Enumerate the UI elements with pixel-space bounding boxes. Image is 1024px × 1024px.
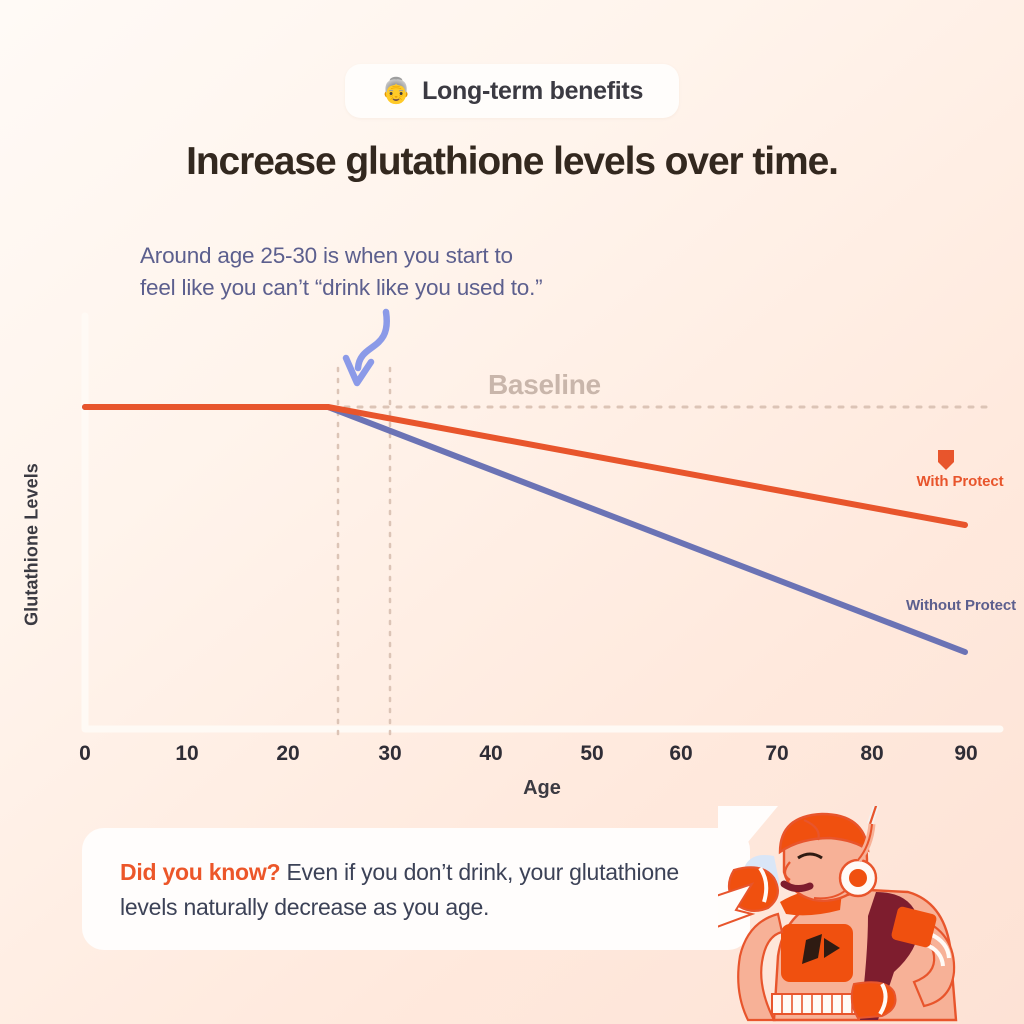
x-axis-title: Age (462, 777, 622, 800)
series-line-with-protect (85, 407, 965, 525)
baseline-label: Baseline (488, 369, 601, 401)
y-axis-title: Glutathione Levels (22, 450, 43, 640)
chart-annotation-line-1: Around age 25-30 is when you start to (140, 240, 640, 272)
x-tick-20: 20 (263, 742, 313, 766)
page-title: Increase glutathione levels over time. (0, 140, 1024, 184)
curved-down-arrow-head (346, 358, 371, 383)
x-tick-60: 60 (656, 742, 706, 766)
x-tick-30: 30 (365, 742, 415, 766)
did-you-know-card: Did you know? Even if you don’t drink, y… (82, 828, 750, 950)
section-badge: 👵 Long-term benefits (345, 64, 679, 118)
legend-label-without-protect: Without Protect (905, 597, 1017, 615)
legend-label-with-protect: With Protect (908, 473, 1012, 491)
did-you-know-text: Did you know? Even if you don’t drink, y… (120, 855, 720, 925)
astronaut-mascot-illustration (718, 806, 1024, 1024)
shield-icon (936, 449, 956, 473)
curved-down-arrow (358, 312, 387, 368)
series-line-without-protect (85, 407, 965, 652)
x-tick-90: 90 (941, 742, 991, 766)
did-you-know-lead: Did you know? (120, 859, 280, 885)
x-tick-0: 0 (60, 742, 110, 766)
chart-annotation: Around age 25-30 is when you start to fe… (140, 240, 640, 304)
older-woman-emoji: 👵 (381, 79, 412, 104)
section-badge-label: Long-term benefits (422, 77, 643, 106)
x-tick-40: 40 (466, 742, 516, 766)
x-tick-10: 10 (162, 742, 212, 766)
x-tick-80: 80 (847, 742, 897, 766)
x-tick-70: 70 (752, 742, 802, 766)
chart-annotation-line-2: feel like you can’t “drink like you used… (140, 272, 640, 304)
x-tick-50: 50 (567, 742, 617, 766)
infographic-canvas: 👵 Long-term benefits Increase glutathion… (0, 0, 1024, 1024)
